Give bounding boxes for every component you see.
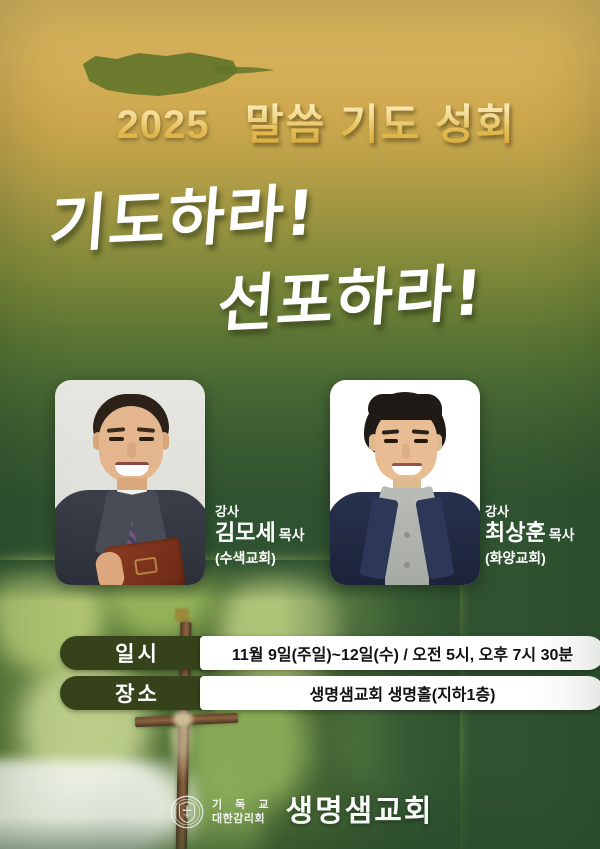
poster-footer: 기 독 교 대한감리회 생명샘교회 <box>170 795 433 829</box>
portrait-fringe <box>368 394 442 420</box>
denomination-name: 기 독 교 대한감리회 <box>212 798 273 826</box>
event-poster: 2025 말씀 기도 성회 기도하라! 선포하라! <box>0 0 600 849</box>
portrait-shirt-button-bottom <box>404 562 410 568</box>
portrait-bible-emblem <box>134 557 158 576</box>
slogan-line-1: 기도하라! <box>47 162 320 264</box>
portrait-mouth <box>392 463 422 475</box>
speaker-role-2: 강사 <box>485 503 575 520</box>
speaker-card-2 <box>330 380 480 585</box>
portrait-eye-right <box>139 437 154 441</box>
info-label-place: 장소 <box>60 676 215 710</box>
portrait-eye-left <box>384 439 398 443</box>
church-name: 생명샘교회 <box>285 795 433 829</box>
portrait-mouth <box>115 462 149 476</box>
speaker-name-row-1: 김모세목사 <box>215 520 305 549</box>
speaker-caption-2: 강사 최상훈목사 (화양교회) <box>485 503 575 568</box>
speaker-title-1: 목사 <box>279 527 305 543</box>
info-value-place: 생명샘교회 생명홀(지하1층) <box>200 676 600 710</box>
speaker-name-2: 최상훈 <box>485 520 546 545</box>
portrait-nose <box>402 444 410 459</box>
info-label-date: 일시 <box>60 636 215 670</box>
portrait-shirt-button-top <box>404 532 410 538</box>
speaker-card-1 <box>55 380 205 585</box>
speaker-name-row-2: 최상훈목사 <box>485 520 575 549</box>
portrait-eye-left <box>109 437 124 441</box>
denomination-line-2: 대한감리회 <box>212 812 273 826</box>
info-value-date: 11월 9일(주일)~12일(수) / 오전 5시, 오후 7시 30분 <box>200 636 600 670</box>
speaker-title-2: 목사 <box>549 527 575 543</box>
speaker-name-1: 김모세 <box>215 520 276 545</box>
speaker-photo-1 <box>55 380 205 585</box>
speaker-caption-1: 강사 김모세목사 (수색교회) <box>215 503 305 568</box>
speaker-church-1: (수색교회) <box>215 549 305 568</box>
slogan-block: 기도하라! 선포하라! <box>0 0 600 340</box>
portrait-eye-right <box>414 439 428 443</box>
speaker-role-1: 강사 <box>215 503 305 520</box>
speaker-church-2: (화양교회) <box>485 549 575 568</box>
slogan-line-2: 선포하라! <box>215 242 488 344</box>
denomination-line-1: 기 독 교 <box>212 798 273 812</box>
speaker-photo-2 <box>330 380 480 585</box>
portrait-nose <box>127 442 136 458</box>
methodist-emblem-icon <box>170 795 204 829</box>
